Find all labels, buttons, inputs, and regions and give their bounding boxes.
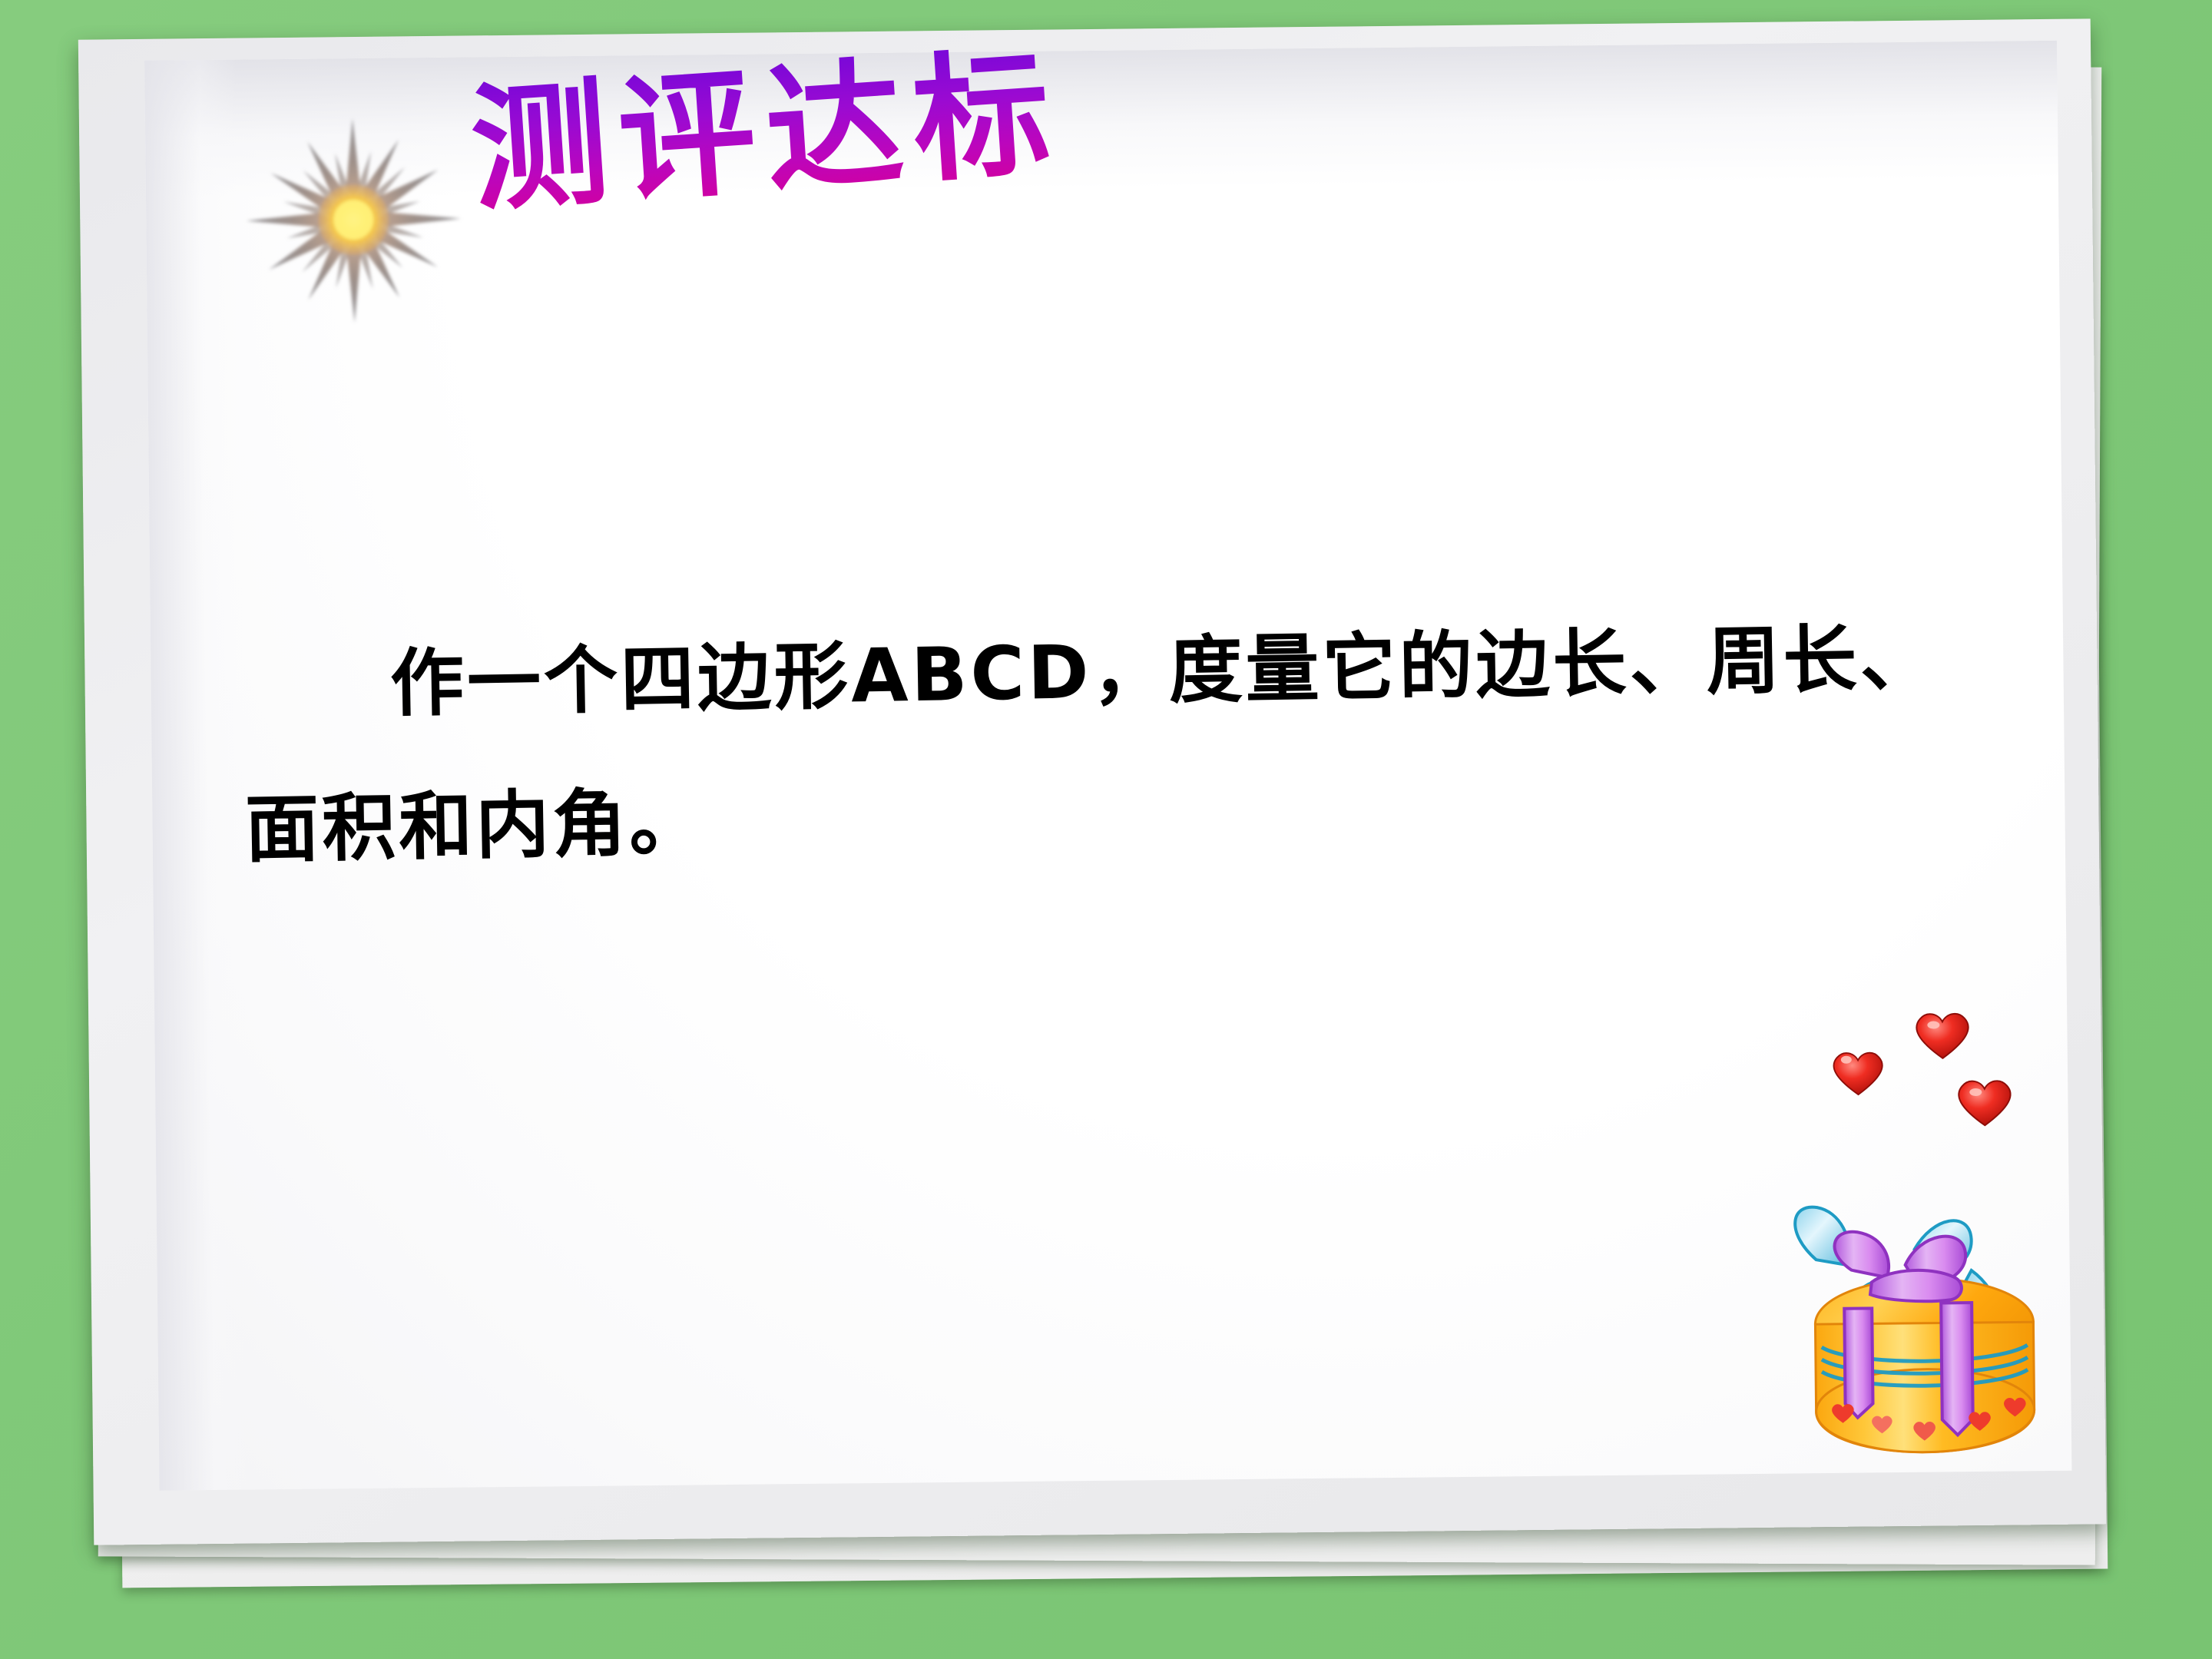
slide-canvas: 测评达标 测评达标 作一个四边形ABCD，度量它的边长、周长、面积和内角。	[0, 0, 2212, 1659]
sunburst-icon	[237, 103, 470, 336]
heart-icon	[1916, 1014, 1969, 1058]
heart-icon	[1959, 1081, 2011, 1125]
page-title: 测评达标	[467, 41, 1065, 224]
floating-hearts-group	[1821, 1002, 2053, 1174]
gift-box-icon	[1769, 1156, 2079, 1489]
slide-title-group: 测评达标 测评达标	[475, 70, 1475, 342]
heart-icon	[1833, 1053, 1883, 1095]
body-paragraph: 作一个四边形ABCD，度量它的边长、周长、面积和内角。	[242, 586, 1990, 902]
slide-card: 测评达标 测评达标 作一个四边形ABCD，度量它的边长、周长、面积和内角。	[78, 18, 2106, 1545]
slide-card-inner: 测评达标 测评达标 作一个四边形ABCD，度量它的边长、周长、面积和内角。	[144, 41, 2071, 1491]
slide-header: 测评达标 测评达标	[144, 41, 2060, 368]
